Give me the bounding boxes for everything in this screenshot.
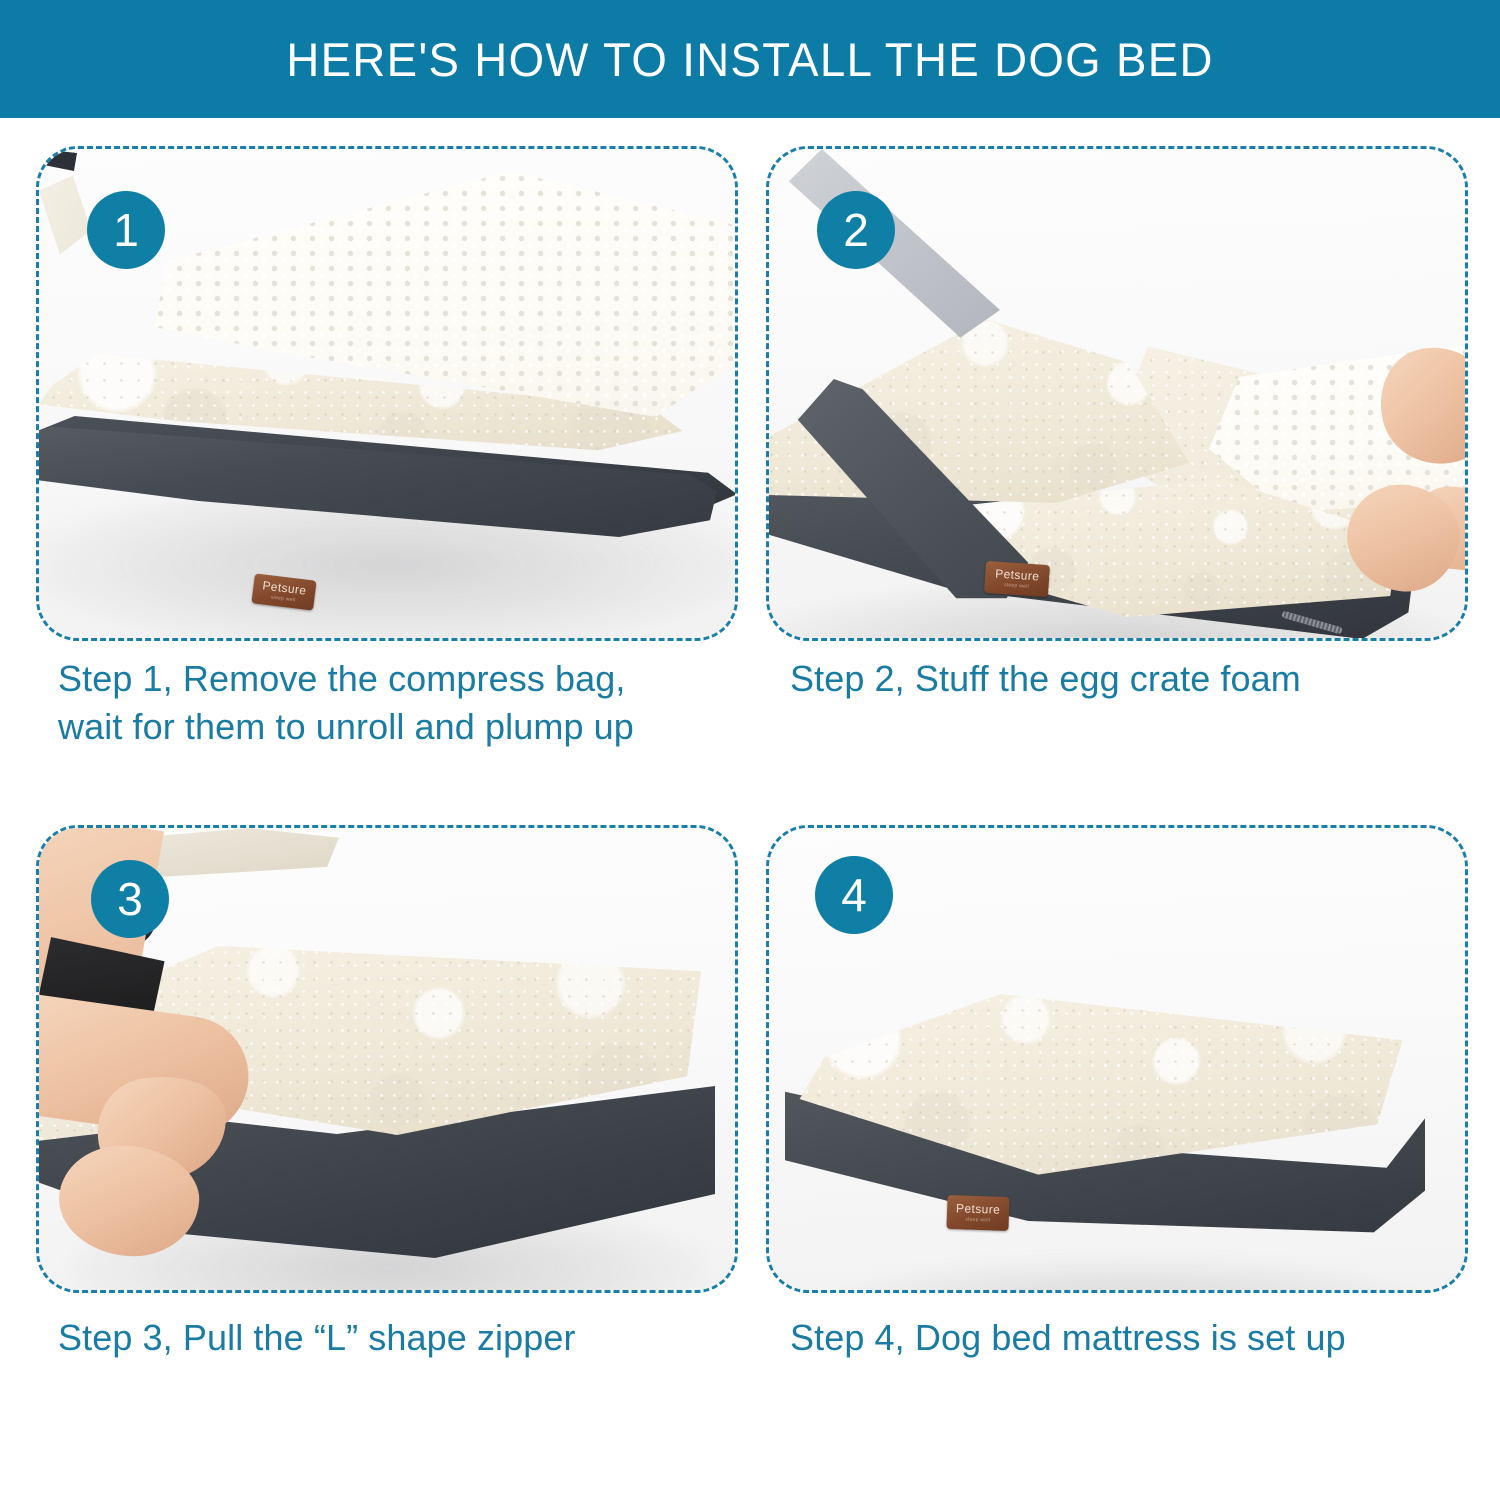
page-title: HERE'S HOW TO INSTALL THE DOG BED xyxy=(286,32,1214,87)
step-3-image-frame: 3 xyxy=(36,825,738,1293)
step-2-image-frame: Petsure sleep well 2 xyxy=(766,146,1468,641)
steps-grid: Petsure sleep well 1 Step 1, Remove the … xyxy=(0,118,1500,1500)
instruction-graphic: HERE'S HOW TO INSTALL THE DOG BED Petsur… xyxy=(0,0,1500,1500)
brand-tag-sublabel: sleep well xyxy=(1004,582,1029,590)
step-number-badge-1: 1 xyxy=(87,191,165,269)
step-caption-2: Step 2, Stuff the egg crate foam xyxy=(790,655,1490,703)
step-caption-3: Step 3, Pull the “L” shape zipper xyxy=(58,1314,758,1362)
brand-tag-label: Petsure xyxy=(956,1202,1001,1216)
step-number-badge-3: 3 xyxy=(91,860,169,938)
step-card-4: Petsure sleep well 4 xyxy=(766,825,1468,1293)
step-number-badge-2: 2 xyxy=(817,191,895,269)
brand-tag: Petsure sleep well xyxy=(946,1195,1009,1231)
header-banner: HERE'S HOW TO INSTALL THE DOG BED xyxy=(0,0,1500,118)
brand-tag-sublabel: sleep well xyxy=(965,1217,990,1224)
brand-tag: Petsure sleep well xyxy=(984,561,1050,597)
step-card-3: 3 xyxy=(36,825,738,1293)
step-card-2: Petsure sleep well 2 xyxy=(766,146,1468,641)
carry-strap xyxy=(39,149,77,171)
step-4-image-frame: Petsure sleep well 4 xyxy=(766,825,1468,1293)
brand-tag-label: Petsure xyxy=(995,567,1040,582)
step-number-badge-4: 4 xyxy=(815,856,893,934)
step-caption-4: Step 4, Dog bed mattress is set up xyxy=(790,1314,1490,1362)
floor-shadow xyxy=(809,1258,1449,1290)
step-1-image-frame: Petsure sleep well 1 xyxy=(36,146,738,641)
brand-tag-label: Petsure xyxy=(262,579,307,596)
step-card-1: Petsure sleep well 1 xyxy=(36,146,738,641)
step-caption-1: Step 1, Remove the compress bag, wait fo… xyxy=(58,655,758,751)
